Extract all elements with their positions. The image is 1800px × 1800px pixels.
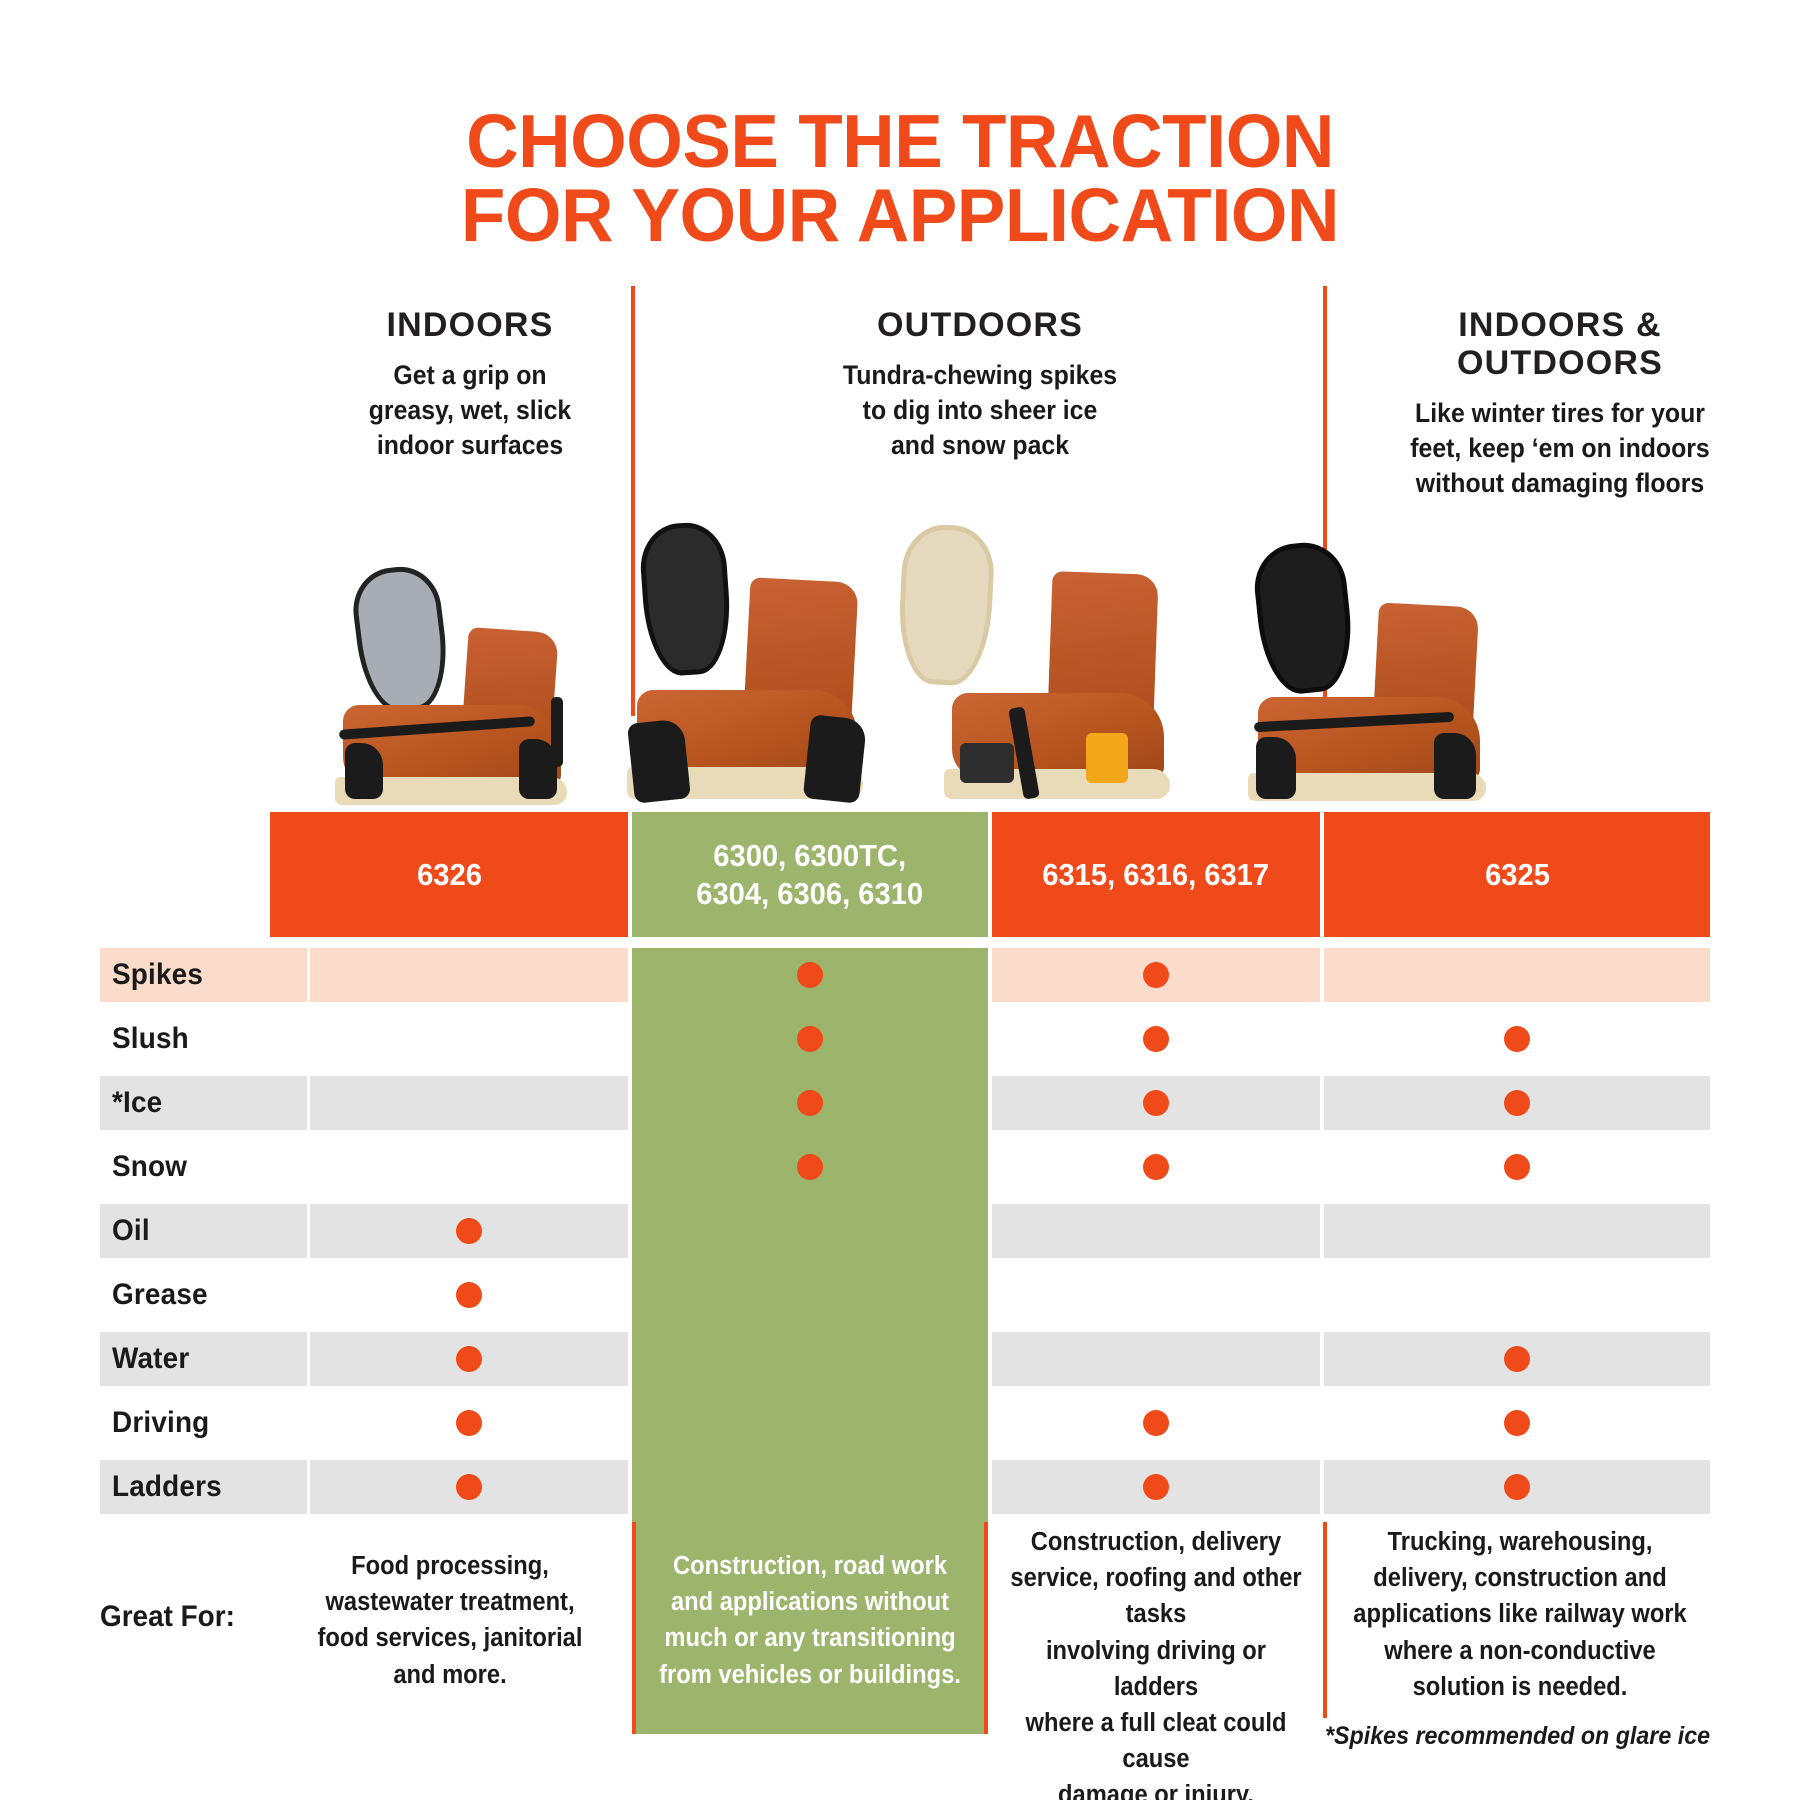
infographic-page: CHOOSE THE TRACTION FOR YOUR APPLICATION… bbox=[0, 0, 1800, 1800]
product-photo-6325 bbox=[1210, 485, 1530, 815]
row-label: Spikes bbox=[112, 948, 203, 1002]
check-dot-icon bbox=[797, 1090, 823, 1116]
outsole-rubber-pad-icon bbox=[1250, 539, 1357, 698]
great-for-line: where a full cleat could cause bbox=[1002, 1705, 1311, 1777]
outdoors-column-band bbox=[632, 1396, 988, 1460]
great-for-cell-column-2: Construction, road work and applications… bbox=[632, 1522, 988, 1734]
group-header-indoors: INDOORS Get a grip on greasy, wet, slick… bbox=[270, 306, 670, 463]
check-dot-icon bbox=[1143, 1474, 1169, 1500]
table-row: Driving bbox=[0, 1396, 1800, 1460]
heel-traction-plate bbox=[960, 743, 1014, 783]
check-dot-icon bbox=[1143, 962, 1169, 988]
group-subtitle-line: feet, keep ‘em on indoors bbox=[1367, 431, 1753, 466]
outdoors-column-band bbox=[632, 1204, 988, 1268]
yellow-buckle bbox=[1086, 733, 1128, 783]
row-label: *Ice bbox=[112, 1076, 162, 1130]
check-dot-icon bbox=[456, 1282, 482, 1308]
table-row: Snow bbox=[0, 1140, 1800, 1204]
group-subtitle-line: Like winter tires for your bbox=[1367, 396, 1753, 431]
check-dot-icon bbox=[1143, 1154, 1169, 1180]
traction-matrix-table: SpikesSlush*IceSnowOilGreaseWaterDriving… bbox=[0, 948, 1800, 1524]
check-dot-icon bbox=[1504, 1154, 1530, 1180]
group-title-outdoors: OUTDOORS bbox=[670, 306, 1290, 344]
group-header-indoors-outdoors: INDOORS & OUTDOORS Like winter tires for… bbox=[1350, 306, 1770, 501]
great-for-line: involving driving or ladders bbox=[1002, 1633, 1311, 1705]
group-subtitle-line: Get a grip on bbox=[286, 358, 654, 393]
model-number-line: 6326 bbox=[417, 856, 482, 894]
great-for-line: food services, janitorial bbox=[301, 1620, 599, 1656]
outdoors-column-band bbox=[632, 1268, 988, 1332]
great-for-line: solution is needed. bbox=[1343, 1669, 1696, 1705]
product-photo-6326 bbox=[305, 485, 605, 815]
great-for-cell-column-3: Construction, delivery service, roofing … bbox=[990, 1524, 1322, 1800]
row-band bbox=[310, 948, 628, 1002]
great-for-line: Trucking, warehousing, bbox=[1343, 1524, 1696, 1560]
table-row: Slush bbox=[0, 1012, 1800, 1076]
product-photo-6300-series bbox=[595, 485, 895, 815]
great-for-line: damage or injury. bbox=[1002, 1777, 1311, 1800]
check-dot-icon bbox=[1143, 1090, 1169, 1116]
group-subtitle-line: Tundra-chewing spikes bbox=[695, 358, 1265, 393]
table-row: *Ice bbox=[0, 1076, 1800, 1140]
check-dot-icon bbox=[1504, 1026, 1530, 1052]
check-dot-icon bbox=[797, 1026, 823, 1052]
row-label: Grease bbox=[112, 1268, 208, 1322]
footnote-spikes-glare-ice: *Spikes recommended on glare ice bbox=[1325, 1722, 1710, 1751]
table-row: Water bbox=[0, 1332, 1800, 1396]
great-for-line: and more. bbox=[301, 1657, 599, 1693]
row-band bbox=[1324, 948, 1710, 1002]
outdoors-column-band bbox=[632, 1460, 988, 1524]
group-subtitle-outdoors: Tundra-chewing spikes to dig into sheer … bbox=[695, 358, 1265, 463]
check-dot-icon bbox=[797, 962, 823, 988]
table-row: Ladders bbox=[0, 1460, 1800, 1524]
group-subtitle-line: to dig into sheer ice bbox=[695, 393, 1265, 428]
group-header-outdoors: OUTDOORS Tundra-chewing spikes to dig in… bbox=[670, 306, 1290, 463]
model-number-line: 6300, 6300TC, bbox=[697, 837, 924, 875]
check-dot-icon bbox=[1504, 1474, 1530, 1500]
great-for-cell-column-1: Food processing, wastewater treatment, f… bbox=[290, 1548, 610, 1693]
row-label: Driving bbox=[112, 1396, 209, 1450]
group-title-indoors: INDOORS bbox=[270, 306, 670, 344]
row-label: Oil bbox=[112, 1204, 150, 1258]
check-dot-icon bbox=[456, 1410, 482, 1436]
group-subtitle-line: indoor surfaces bbox=[286, 428, 654, 463]
outsole-pattern-icon bbox=[896, 523, 996, 688]
great-for-line: Construction, delivery bbox=[1002, 1524, 1311, 1560]
outdoors-column-band bbox=[632, 1332, 988, 1396]
check-dot-icon bbox=[797, 1154, 823, 1180]
outsole-spike-pad-icon bbox=[638, 520, 734, 678]
product-photo-6315-series bbox=[900, 485, 1220, 815]
great-for-line: applications like railway work bbox=[1343, 1596, 1696, 1632]
check-dot-icon bbox=[456, 1346, 482, 1372]
outsole-traction-pad-icon bbox=[348, 562, 453, 717]
row-label: Snow bbox=[112, 1140, 187, 1194]
check-dot-icon bbox=[456, 1218, 482, 1244]
heel-spike-cleat bbox=[803, 714, 867, 803]
product-photo-row bbox=[0, 480, 1800, 815]
row-band bbox=[992, 1204, 1320, 1258]
great-for-line: and applications without bbox=[648, 1584, 972, 1620]
model-bar-column-4: 6325 bbox=[1324, 812, 1710, 937]
great-for-label: Great For: bbox=[100, 1600, 235, 1634]
great-for-line: Food processing, bbox=[301, 1548, 599, 1584]
divider-rule-3 bbox=[1323, 1522, 1327, 1718]
table-row: Oil bbox=[0, 1204, 1800, 1268]
check-dot-icon bbox=[1143, 1410, 1169, 1436]
group-title-line: OUTDOORS bbox=[1350, 344, 1770, 382]
row-band bbox=[992, 1332, 1320, 1386]
group-title-indoors-outdoors: INDOORS & OUTDOORS bbox=[1350, 306, 1770, 382]
model-number-line: 6315, 6316, 6317 bbox=[1043, 856, 1270, 894]
row-label: Ladders bbox=[112, 1460, 222, 1514]
check-dot-icon bbox=[1504, 1090, 1530, 1116]
great-for-line: where a non-conductive bbox=[1343, 1633, 1696, 1669]
page-title: CHOOSE THE TRACTION FOR YOUR APPLICATION bbox=[27, 105, 1773, 252]
table-row: Grease bbox=[0, 1268, 1800, 1332]
model-bar-column-1: 6326 bbox=[270, 812, 628, 937]
model-number-line: 6304, 6306, 6310 bbox=[697, 875, 924, 913]
great-for-line: service, roofing and other tasks bbox=[1002, 1560, 1311, 1632]
check-dot-icon bbox=[1504, 1346, 1530, 1372]
check-dot-icon bbox=[456, 1474, 482, 1500]
table-row: Spikes bbox=[0, 948, 1800, 1012]
model-bar-column-2: 6300, 6300TC, 6304, 6306, 6310 bbox=[632, 812, 988, 937]
page-title-line-2: FOR YOUR APPLICATION bbox=[27, 179, 1773, 253]
group-subtitle-indoors: Get a grip on greasy, wet, slick indoor … bbox=[286, 358, 654, 463]
model-bar-column-3: 6315, 6316, 6317 bbox=[992, 812, 1320, 937]
check-dot-icon bbox=[1504, 1410, 1530, 1436]
great-for-line: Construction, road work bbox=[648, 1548, 972, 1584]
row-label: Slush bbox=[112, 1012, 189, 1066]
toe-spike-cleat bbox=[627, 718, 691, 803]
page-title-line-1: CHOOSE THE TRACTION bbox=[27, 105, 1773, 179]
great-for-line: from vehicles or buildings. bbox=[648, 1657, 972, 1693]
group-title-line: INDOORS & bbox=[1350, 306, 1770, 344]
row-label: Water bbox=[112, 1332, 189, 1386]
toe-cleat bbox=[1256, 737, 1296, 799]
check-dot-icon bbox=[1143, 1026, 1169, 1052]
great-for-line: much or any transitioning bbox=[648, 1620, 972, 1656]
heel-cleat bbox=[1434, 733, 1476, 799]
group-subtitle-line: greasy, wet, slick bbox=[286, 393, 654, 428]
great-for-line: wastewater treatment, bbox=[301, 1584, 599, 1620]
row-band bbox=[310, 1076, 628, 1130]
heel-connector bbox=[551, 697, 563, 767]
great-for-line: delivery, construction and bbox=[1343, 1560, 1696, 1596]
row-band bbox=[1324, 1204, 1710, 1258]
group-subtitle-line: and snow pack bbox=[695, 428, 1265, 463]
toe-cleat bbox=[345, 743, 383, 799]
great-for-cell-column-4: Trucking, warehousing, delivery, constru… bbox=[1330, 1524, 1710, 1705]
model-number-line: 6325 bbox=[1485, 856, 1550, 894]
